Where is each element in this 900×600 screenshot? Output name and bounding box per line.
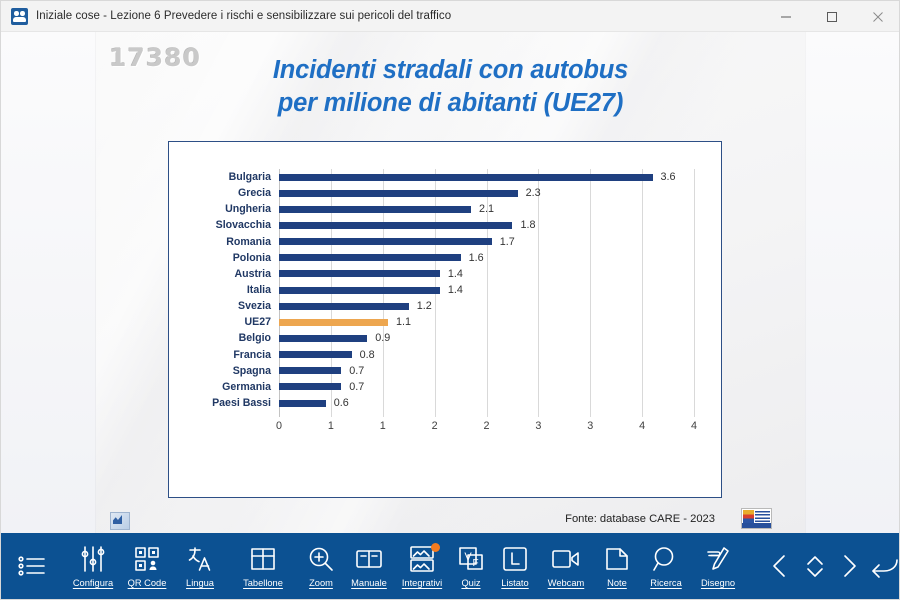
chart-x-tick-label: 2: [432, 420, 438, 432]
chart-value-label: 1.8: [520, 219, 535, 231]
etsc-logo: [741, 508, 772, 529]
toolbar-item-webcam[interactable]: Webcam: [539, 533, 593, 599]
page-title: Incidenti stradali con autobus per milio…: [96, 54, 805, 119]
chart-category-label: Ungheria: [177, 201, 275, 217]
toolbar-item-configura[interactable]: Configura: [63, 533, 123, 599]
chart-value-label: 0.9: [375, 332, 390, 344]
chart-bar-row: 0.9: [279, 330, 694, 346]
toolbar-nav-next[interactable]: [832, 533, 867, 599]
chart-bars: 3.62.32.11.81.71.61.41.41.21.10.90.80.70…: [279, 169, 694, 411]
chart-bar[interactable]: [279, 206, 471, 213]
toolbar-item-label: Lingua: [186, 578, 214, 588]
chart-bar-row: 1.4: [279, 282, 694, 298]
chart-bar[interactable]: [279, 254, 461, 261]
chart-x-axis: 011223344: [279, 411, 694, 437]
chart-category-label: Polonia: [177, 250, 275, 266]
toolbar-nav-updown[interactable]: [798, 533, 833, 599]
pen-draw-icon: [704, 544, 732, 574]
search-icon: [652, 544, 680, 574]
slide-title-line2: per milione di abitanti (UE27): [96, 87, 805, 120]
chart-value-label: 0.6: [334, 397, 349, 409]
toolbar-item-label: Listato: [501, 578, 528, 588]
chart-category-label: Francia: [177, 347, 275, 363]
chart-bar[interactable]: [279, 367, 341, 374]
toolbar-item-label: Note: [607, 578, 627, 588]
close-icon[interactable]: [855, 1, 900, 32]
app-window: Iniziale cose - Lezione 6 Prevedere i ri…: [0, 0, 900, 600]
chart-bar[interactable]: [279, 303, 409, 310]
chart-bar[interactable]: [279, 222, 512, 229]
chart-bar-row: 1.1: [279, 314, 694, 330]
chart-value-label: 0.7: [349, 365, 364, 377]
chart-category-label: Slovacchia: [177, 217, 275, 233]
grid-board-icon: [250, 544, 276, 574]
toolbar-item-listato[interactable]: Listato: [491, 533, 539, 599]
chart-bar-row: 2.1: [279, 201, 694, 217]
list-menu-icon: [17, 551, 47, 581]
minimize-icon[interactable]: [763, 1, 809, 32]
chart-bar-row: 0.7: [279, 379, 694, 395]
chart-bar-row: 1.2: [279, 298, 694, 314]
chart-x-tick-label: 0: [276, 420, 282, 432]
toolbar-item-ricerca[interactable]: Ricerca: [641, 533, 691, 599]
slide-title-line1: Incidenti stradali con autobus: [96, 54, 805, 87]
chart-category-label: Romania: [177, 234, 275, 250]
toolbar-item-label: Tabellone: [243, 578, 283, 588]
title-bar: Iniziale cose - Lezione 6 Prevedere i ri…: [1, 1, 900, 32]
chart-bar-row: 1.8: [279, 217, 694, 233]
chart-value-label: 1.7: [500, 236, 515, 248]
chart-source-label: Fonte: database CARE - 2023: [565, 513, 715, 525]
chart-bar[interactable]: [279, 287, 440, 294]
chart-x-tick-label: 1: [328, 420, 334, 432]
sliders-icon: [79, 544, 107, 574]
chart-x-tick-label: 2: [483, 420, 489, 432]
chart-bar-row: 1.7: [279, 234, 694, 250]
chart-value-label: 1.1: [396, 316, 411, 328]
chart-category-label: UE27: [177, 314, 275, 330]
toolbar-item-lingua[interactable]: Lingua: [171, 533, 229, 599]
chart-value-label: 0.7: [349, 381, 364, 393]
window-controls: [763, 1, 900, 32]
chart-gridline: [694, 169, 695, 417]
toolbar-item-note[interactable]: Note: [593, 533, 641, 599]
chart-value-label: 1.4: [448, 284, 463, 296]
magnifier-plus-icon: [307, 544, 335, 574]
webcam-icon: [551, 544, 581, 574]
chart-category-label: Paesi Bassi: [177, 395, 275, 411]
toolbar-item-manuale[interactable]: Manuale: [345, 533, 393, 599]
toolbar-item-label: Zoom: [309, 578, 333, 588]
toolbar-item-label: Manuale: [351, 578, 387, 588]
chart-bar-row: 2.3: [279, 185, 694, 201]
toolbar-item-disegno[interactable]: Disegno: [691, 533, 745, 599]
toolbar-nav-back[interactable]: [867, 533, 900, 599]
chart-value-label: 2.3: [526, 187, 541, 199]
window-title: Iniziale cose - Lezione 6 Prevedere i ri…: [36, 10, 451, 22]
toolbar-item-integrativi[interactable]: Integrativi: [393, 533, 451, 599]
toolbar-item-label: QR Code: [128, 578, 167, 588]
chart-bar[interactable]: [279, 270, 440, 277]
toolbar-item-label: Ricerca: [650, 578, 682, 588]
toolbar-item-label: Disegno: [701, 578, 735, 588]
bar-chart[interactable]: BulgariaGreciaUngheriaSlovacchiaRomaniaP…: [168, 141, 722, 498]
chart-category-labels: BulgariaGreciaUngheriaSlovacchiaRomaniaP…: [177, 169, 275, 411]
chart-category-label: Austria: [177, 266, 275, 282]
chart-bar[interactable]: [279, 319, 388, 326]
chart-bar-row: 0.7: [279, 363, 694, 379]
quiz-vf-icon: VF: [458, 544, 484, 574]
toolbar-item-tabellone[interactable]: Tabellone: [229, 533, 297, 599]
chart-bar-row: 0.6: [279, 395, 694, 411]
chart-bar-row: 1.4: [279, 266, 694, 282]
chart-category-label: Germania: [177, 379, 275, 395]
chart-value-label: 1.6: [469, 252, 484, 264]
maximize-icon[interactable]: [809, 1, 855, 32]
notification-badge: [431, 543, 440, 552]
toolbar-item-menu[interactable]: [1, 533, 63, 599]
chart-bar[interactable]: [279, 335, 367, 342]
chart-category-label: Svezia: [177, 298, 275, 314]
book-icon: [355, 544, 383, 574]
contacts-icon: [11, 8, 28, 25]
chart-bar[interactable]: [279, 351, 352, 358]
chart-bar-row: 0.8: [279, 347, 694, 363]
chart-bar[interactable]: [279, 174, 653, 181]
chart-x-tick-label: 4: [691, 420, 697, 432]
toolbar-item-quiz[interactable]: VFQuiz: [451, 533, 491, 599]
chart-value-label: 0.8: [360, 349, 375, 361]
bottom-toolbar: ConfiguraQR CodeLinguaTabelloneZoomManua…: [1, 533, 900, 599]
toolbar-item-label: Configura: [73, 578, 113, 588]
chart-category-label: Bulgaria: [177, 169, 275, 185]
chart-value-label: 1.2: [417, 300, 432, 312]
chart-x-tick-label: 4: [639, 420, 645, 432]
listato-l-icon: [502, 544, 528, 574]
chart-category-label: Grecia: [177, 185, 275, 201]
chart-category-label: Italia: [177, 282, 275, 298]
chart-bar-row: 3.6: [279, 169, 694, 185]
toolbar-item-label: Integrativi: [402, 578, 442, 588]
chart-bar[interactable]: [279, 238, 492, 245]
chart-bar-row: 1.6: [279, 250, 694, 266]
translate-icon: [186, 544, 214, 574]
toolbar-nav-prev[interactable]: [763, 533, 798, 599]
chart-x-tick-label: 3: [535, 420, 541, 432]
image-thumbnail-icon: [110, 512, 130, 530]
toolbar-item-zoom[interactable]: Zoom: [297, 533, 345, 599]
chart-plot-area: 3.62.32.11.81.71.61.41.41.21.10.90.80.70…: [279, 169, 694, 411]
chart-category-label: Belgio: [177, 330, 275, 346]
chart-bar[interactable]: [279, 190, 518, 197]
chart-value-label: 3.6: [661, 171, 676, 183]
chart-value-label: 1.4: [448, 268, 463, 280]
svg-text:F: F: [472, 558, 478, 569]
chart-x-tick-label: 1: [380, 420, 386, 432]
chart-value-label: 2.1: [479, 203, 494, 215]
slide[interactable]: 17380 Incidenti stradali con autobus per…: [96, 32, 805, 535]
toolbar-item-qr-code[interactable]: QR Code: [123, 533, 171, 599]
toolbar-item-label: Quiz: [461, 578, 480, 588]
toolbar-item-label: Webcam: [548, 578, 585, 588]
qr-code-icon: [134, 544, 160, 574]
chart-bar[interactable]: [279, 383, 341, 390]
chart-bar[interactable]: [279, 400, 326, 407]
note-icon: [604, 544, 630, 574]
chart-category-label: Spagna: [177, 363, 275, 379]
chart-x-tick-label: 3: [587, 420, 593, 432]
slide-stage[interactable]: 17380 Incidenti stradali con autobus per…: [1, 32, 900, 535]
